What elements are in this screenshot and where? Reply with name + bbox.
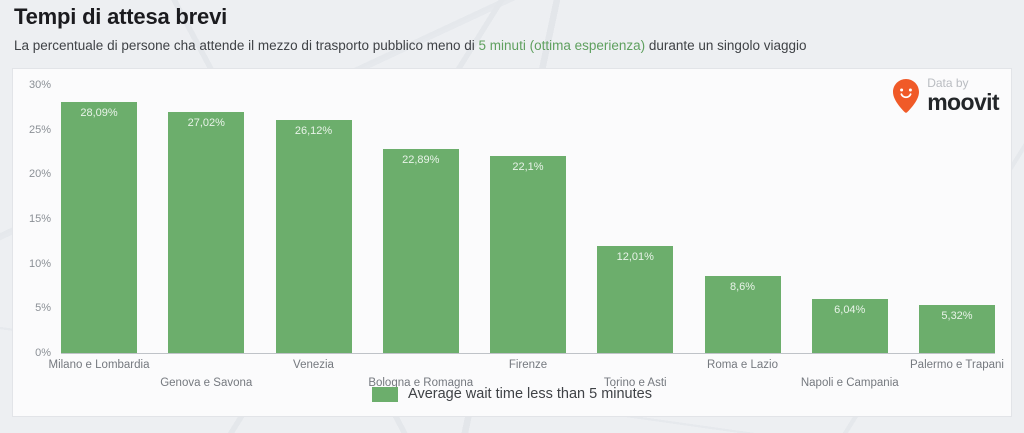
bar-value-label: 5,32%	[919, 310, 995, 322]
chart-legend: Average wait time less than 5 minutes	[13, 386, 1011, 402]
chart-page: Tempi di attesa brevi La percentuale di …	[0, 0, 1024, 433]
y-axis-tick-label: 5%	[35, 302, 51, 314]
bar[interactable]: 28,09%	[61, 102, 137, 353]
page-title: Tempi di attesa brevi	[14, 4, 227, 30]
subtitle-highlight: 5 minuti (ottima esperienza)	[479, 38, 646, 53]
bar-column[interactable]: 27,02%	[168, 85, 244, 353]
bar-value-label: 28,09%	[61, 107, 137, 119]
y-axis-tick-label: 10%	[29, 258, 51, 270]
bar-value-label: 12,01%	[597, 251, 673, 263]
bar-column[interactable]: 5,32%	[919, 85, 995, 353]
y-axis-tick-label: 25%	[29, 124, 51, 136]
page-subtitle: La percentuale di persone cha attende il…	[14, 38, 807, 53]
bar-column[interactable]: 6,04%	[812, 85, 888, 353]
bar-value-label: 27,02%	[168, 117, 244, 129]
bar[interactable]: 27,02%	[168, 112, 244, 353]
bar[interactable]: 8,6%	[705, 276, 781, 353]
bar-series: 28,09%27,02%26,12%22,89%22,1%12,01%8,6%6…	[61, 85, 995, 353]
y-axis-tick-label: 20%	[29, 168, 51, 180]
x-axis-tick-label: Roma e Lazio	[663, 359, 823, 371]
bar[interactable]: 22,89%	[383, 149, 459, 353]
bar-value-label: 6,04%	[812, 304, 888, 316]
bar-column[interactable]: 28,09%	[61, 85, 137, 353]
y-axis-tick-label: 30%	[29, 79, 51, 91]
bar-value-label: 26,12%	[276, 125, 352, 137]
bar[interactable]: 26,12%	[276, 120, 352, 353]
bar-column[interactable]: 22,1%	[490, 85, 566, 353]
bar[interactable]: 5,32%	[919, 305, 995, 353]
bar-value-label: 22,89%	[383, 154, 459, 166]
bar-column[interactable]: 12,01%	[597, 85, 673, 353]
x-axis-tick-label: Firenze	[448, 359, 608, 371]
subtitle-text-before: La percentuale di persone cha attende il…	[14, 38, 479, 53]
legend-color-swatch	[372, 387, 398, 402]
bar-value-label: 8,6%	[705, 281, 781, 293]
bar-column[interactable]: 26,12%	[276, 85, 352, 353]
bar[interactable]: 12,01%	[597, 246, 673, 353]
bar[interactable]: 22,1%	[490, 156, 566, 353]
plot-area: 0%5%10%15%20%25%30% 28,09%27,02%26,12%22…	[61, 85, 995, 353]
chart-panel: Data by moovit 0%5%10%15%20%25%30% 28,09…	[12, 68, 1012, 417]
x-axis-baseline	[61, 353, 995, 354]
y-axis-tick-label: 0%	[35, 347, 51, 359]
y-axis-tick-label: 15%	[29, 213, 51, 225]
legend-label: Average wait time less than 5 minutes	[408, 386, 652, 402]
bar-column[interactable]: 22,89%	[383, 85, 459, 353]
x-axis-tick-label: Milano e Lombardia	[19, 359, 179, 371]
bar[interactable]: 6,04%	[812, 299, 888, 353]
bar-column[interactable]: 8,6%	[705, 85, 781, 353]
x-axis-tick-label: Venezia	[234, 359, 394, 371]
subtitle-text-after: durante un singolo viaggio	[645, 38, 806, 53]
x-axis-tick-label: Palermo e Trapani	[877, 359, 1024, 371]
bar-value-label: 22,1%	[490, 161, 566, 173]
